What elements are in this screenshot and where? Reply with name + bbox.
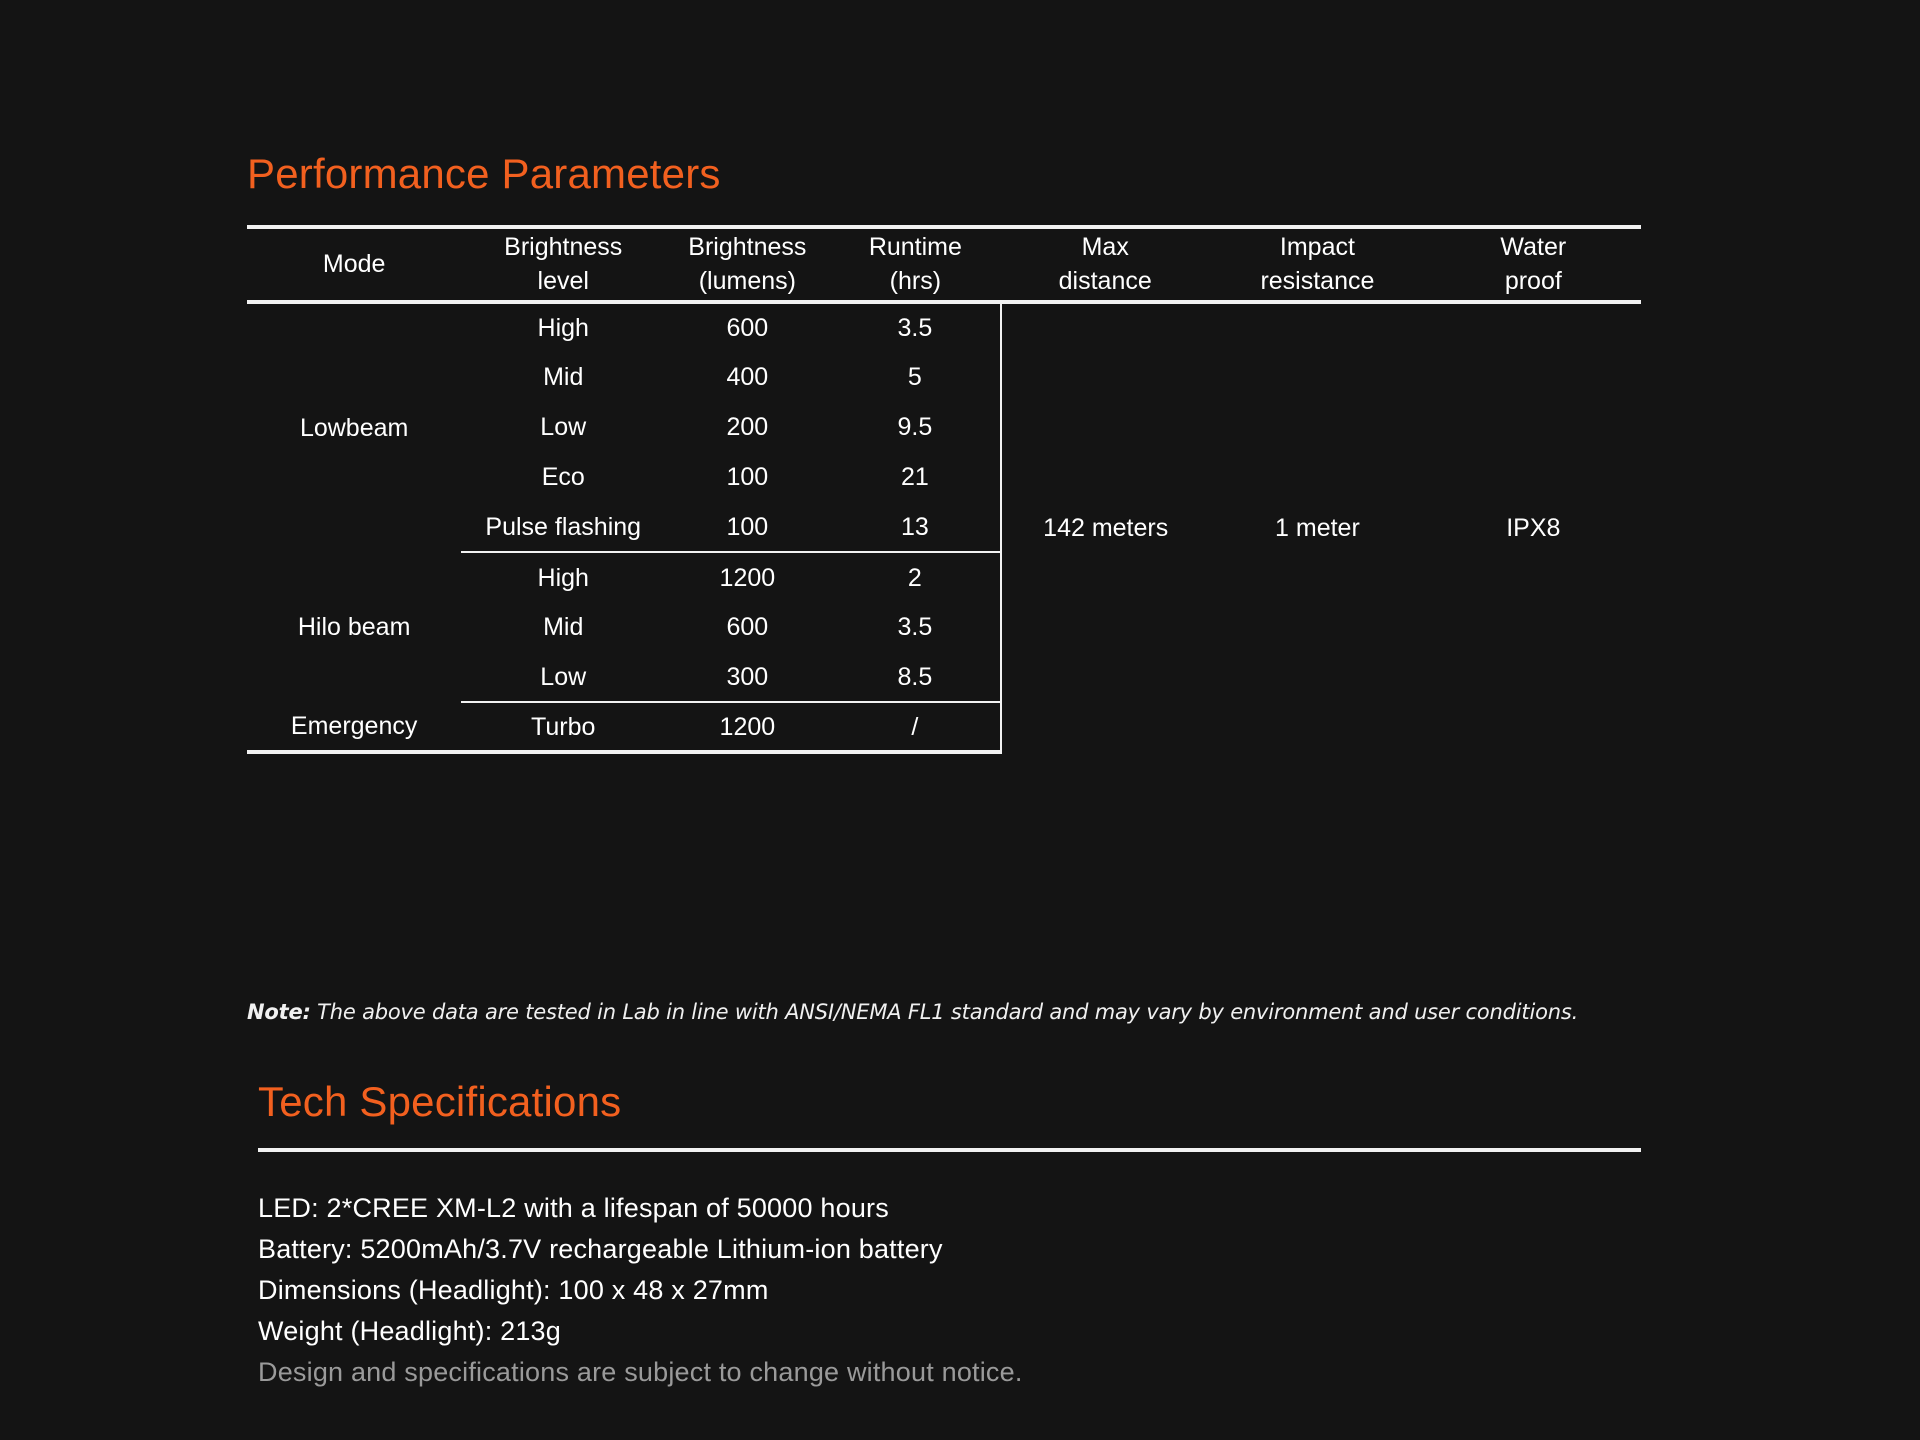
cell-brightness-level: Turbo (461, 702, 665, 752)
list-item: Dimensions (Headlight): 100 x 48 x 27mm (258, 1270, 1458, 1311)
cell-brightness-lumens: 1200 (665, 702, 829, 752)
cell-runtime: 8.5 (830, 652, 1002, 702)
cell-brightness-lumens: 300 (665, 652, 829, 702)
list-item: Weight (Headlight): 213g (258, 1311, 1458, 1352)
tech-specifications-title: Tech Specifications (258, 1078, 621, 1126)
cell-brightness-level: High (461, 552, 665, 602)
cell-brightness-lumens: 600 (665, 302, 829, 352)
table-body: Lowbeam High 600 3.5 142 meters 1 meter … (247, 302, 1641, 752)
cell-runtime: 13 (830, 502, 1002, 552)
mode-label-emergency: Emergency (247, 702, 461, 752)
cell-brightness-level: Eco (461, 452, 665, 502)
page-root: Performance Parameters Mode Brightness l… (0, 0, 1920, 1440)
column-header-brightness-level: Brightness level (461, 227, 665, 302)
column-header-mode-line1: Mode (323, 250, 386, 278)
cell-brightness-lumens: 200 (665, 402, 829, 452)
cell-brightness-lumens: 1200 (665, 552, 829, 602)
column-header-runtime: Runtime (hrs) (830, 227, 1002, 302)
column-header-brightness-level-line2: level (461, 265, 665, 298)
column-header-water-proof-line2: proof (1426, 265, 1641, 298)
column-header-runtime-line2: (hrs) (830, 265, 1002, 298)
cell-runtime: 3.5 (830, 602, 1002, 652)
column-header-max-distance-line2: distance (1001, 265, 1209, 298)
column-header-brightness-level-line1: Brightness (504, 233, 622, 261)
table-note: Note: The above data are tested in Lab i… (247, 1000, 1578, 1024)
mode-label-hilo-beam: Hilo beam (247, 552, 461, 702)
cell-brightness-level: Mid (461, 602, 665, 652)
list-item: LED: 2*CREE XM-L2 with a lifespan of 500… (258, 1188, 1458, 1229)
cell-runtime: 2 (830, 552, 1002, 602)
cell-runtime: 9.5 (830, 402, 1002, 452)
column-header-water-proof: Water proof (1426, 227, 1641, 302)
tech-specifications-disclaimer: Design and specifications are subject to… (258, 1352, 1458, 1393)
cell-brightness-level: High (461, 302, 665, 352)
column-header-impact-resistance-line2: resistance (1209, 265, 1425, 298)
cell-impact-resistance: 1 meter (1209, 302, 1425, 752)
cell-brightness-level: Low (461, 402, 665, 452)
cell-brightness-lumens: 400 (665, 352, 829, 402)
mode-label-lowbeam: Lowbeam (247, 302, 461, 552)
cell-water-proof: IPX8 (1426, 302, 1641, 752)
column-header-brightness-lumens-line1: Brightness (688, 233, 806, 261)
table-row: Lowbeam High 600 3.5 142 meters 1 meter … (247, 302, 1641, 352)
cell-max-distance: 142 meters (1001, 302, 1209, 752)
column-header-brightness-lumens: Brightness (lumens) (665, 227, 829, 302)
cell-brightness-level: Mid (461, 352, 665, 402)
cell-brightness-level: Low (461, 652, 665, 702)
cell-runtime: / (830, 702, 1002, 752)
table-note-label: Note: (247, 1000, 311, 1024)
column-header-runtime-line1: Runtime (869, 233, 962, 261)
cell-brightness-lumens: 100 (665, 452, 829, 502)
performance-table: Mode Brightness level Brightness (lumens… (247, 225, 1641, 754)
table-header-row: Mode Brightness level Brightness (lumens… (247, 227, 1641, 302)
tech-specifications-divider (258, 1148, 1641, 1152)
column-header-mode: Mode (247, 227, 461, 302)
cell-brightness-lumens: 100 (665, 502, 829, 552)
column-header-max-distance: Max distance (1001, 227, 1209, 302)
column-header-brightness-lumens-line2: (lumens) (665, 265, 829, 298)
cell-brightness-lumens: 600 (665, 602, 829, 652)
column-header-max-distance-line1: Max (1082, 233, 1129, 261)
column-header-water-proof-line1: Water (1500, 233, 1566, 261)
cell-runtime: 3.5 (830, 302, 1002, 352)
performance-table-wrap: Mode Brightness level Brightness (lumens… (247, 225, 1641, 754)
table-note-text: The above data are tested in Lab in line… (311, 1000, 1578, 1024)
list-item: Battery: 5200mAh/3.7V rechargeable Lithi… (258, 1229, 1458, 1270)
column-header-impact-resistance-line1: Impact (1280, 233, 1355, 261)
column-header-impact-resistance: Impact resistance (1209, 227, 1425, 302)
tech-specifications-list: LED: 2*CREE XM-L2 with a lifespan of 500… (258, 1188, 1458, 1393)
cell-runtime: 5 (830, 352, 1002, 402)
cell-runtime: 21 (830, 452, 1002, 502)
performance-parameters-title: Performance Parameters (247, 150, 721, 198)
cell-brightness-level: Pulse flashing (461, 502, 665, 552)
table-header: Mode Brightness level Brightness (lumens… (247, 227, 1641, 302)
